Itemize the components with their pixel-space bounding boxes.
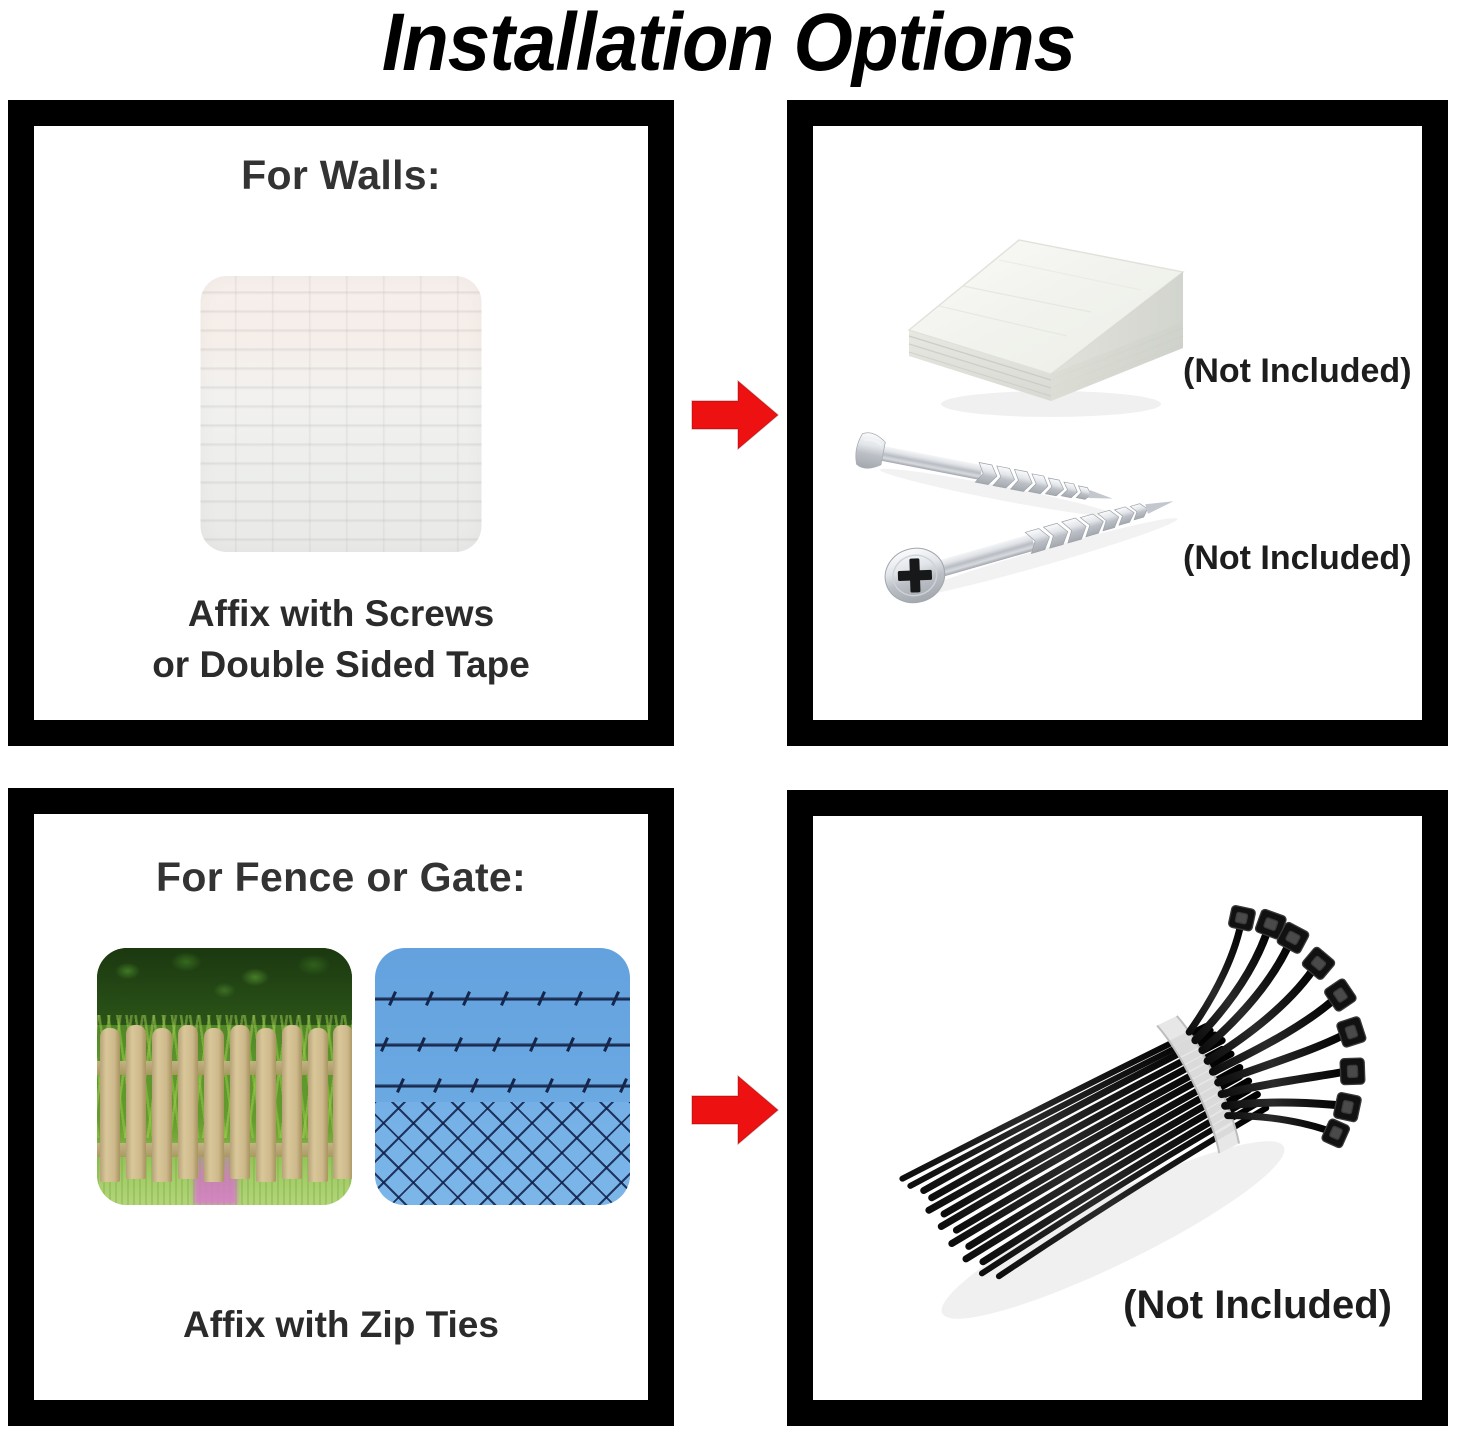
panel-heading-for-walls: For Walls: xyxy=(34,152,648,199)
white-brick-wall-photo xyxy=(201,276,482,552)
panel-wall-hardware: (Not Included) xyxy=(787,100,1448,746)
red-right-arrow-icon xyxy=(690,1072,780,1148)
panel-heading-for-fence-or-gate: For Fence or Gate: xyxy=(34,854,648,901)
panel-for-walls: For Walls: Affix with Screws or Double S… xyxy=(8,100,674,746)
screws-not-included-label: (Not Included) xyxy=(1183,539,1412,578)
panel-zip-ties: (Not Included) xyxy=(787,790,1448,1426)
caption-line-1: Affix with Screws xyxy=(34,588,648,639)
caption-line-2: or Double Sided Tape xyxy=(34,639,648,690)
double-sided-tape-stack-photo xyxy=(891,226,1191,421)
silver-screws-photo xyxy=(853,426,1213,626)
panel-caption-walls: Affix with Screws or Double Sided Tape xyxy=(34,588,648,690)
red-right-arrow-icon xyxy=(690,377,780,453)
zipties-not-included-label: (Not Included) xyxy=(1123,1283,1392,1328)
wooden-picket-fence-photo xyxy=(97,948,352,1205)
page-title: Installation Options xyxy=(51,0,1406,90)
panel-for-fence-or-gate: For Fence or Gate: xyxy=(8,788,674,1426)
tape-not-included-label: (Not Included) xyxy=(1183,352,1412,391)
chain-link-barbed-wire-fence-photo xyxy=(375,948,630,1205)
panel-caption-fence: Affix with Zip Ties xyxy=(34,1299,648,1350)
